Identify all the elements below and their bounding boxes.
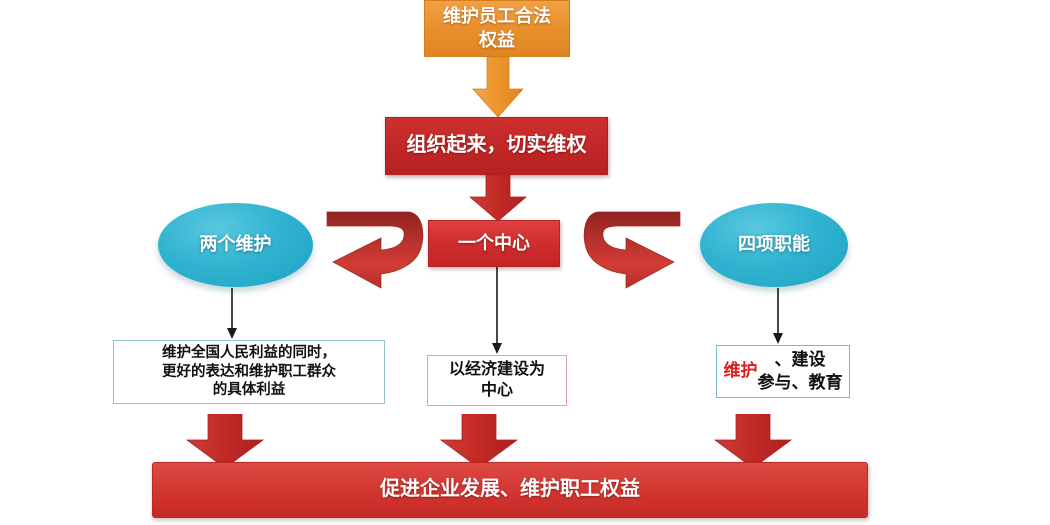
detail-box-center: 以经济建设为 中心 xyxy=(427,355,567,406)
ellipse-two-safeguards: 两个维护 xyxy=(158,203,313,287)
curved-red-arrow-right xyxy=(582,200,702,290)
center-box: 一个中心 xyxy=(428,220,560,267)
thin-down-arrow-right xyxy=(768,288,788,345)
curved-red-arrow-left xyxy=(305,200,425,290)
detail-box-left: 维护全国人民利益的同时， 更好的表达和维护职工群众 的具体利益 xyxy=(113,340,385,404)
flowchart-canvas: 维护员工合法 权益 组织起来，切实维权 一个中心 xyxy=(0,0,1050,525)
bottom-result-bar: 促进企业发展、维护职工权益 xyxy=(152,462,868,518)
detail-right-rest: 、建设 参与、教育 xyxy=(758,349,843,393)
detail-box-right: 维护、建设 参与、教育 xyxy=(716,345,850,398)
detail-right-highlight: 维护 xyxy=(724,360,758,382)
organize-box: 组织起来，切实维权 xyxy=(385,117,608,175)
ellipse-four-functions: 四项职能 xyxy=(700,203,848,287)
red-down-arrow-to-center xyxy=(467,175,529,223)
thin-down-arrow-center xyxy=(487,267,507,355)
orange-down-arrow xyxy=(470,57,526,119)
thin-down-arrow-left xyxy=(222,288,242,340)
goal-box: 维护员工合法 权益 xyxy=(424,0,570,57)
